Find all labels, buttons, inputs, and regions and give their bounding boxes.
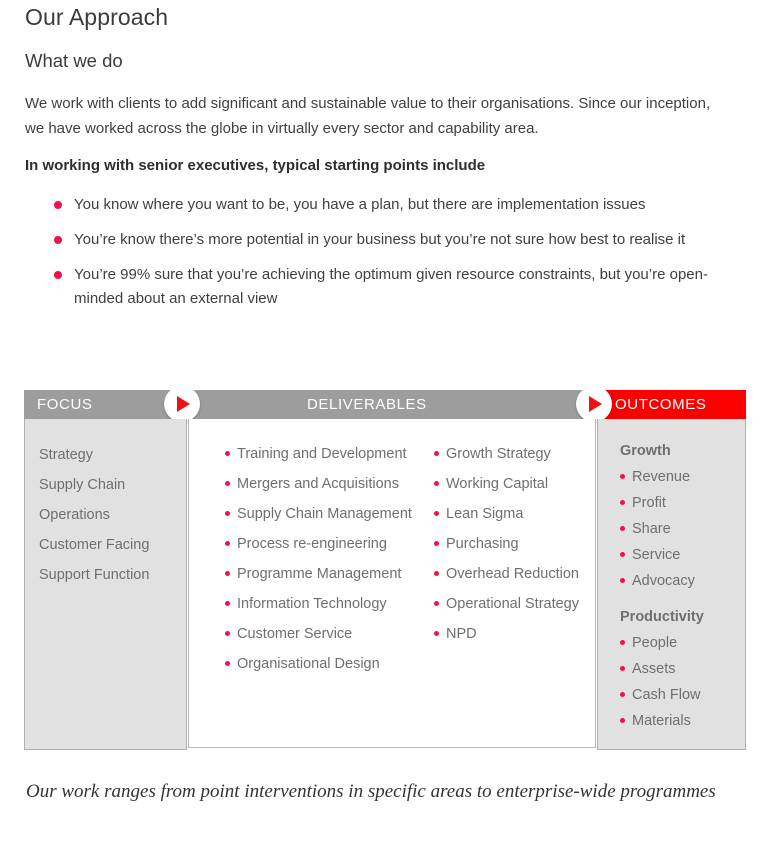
outcomes-list-productivity: People Assets Cash Flow Materials: [620, 630, 704, 734]
column-outcomes: Growth Revenue Profit Share Service Advo…: [597, 419, 746, 750]
section-heading-what-we-do: What we do: [25, 50, 123, 72]
list-item: Supply Chain Management: [225, 499, 412, 529]
list-item: Purchasing: [434, 529, 579, 559]
diagram-header-band: FOCUS DELIVERABLES OUTCOMES: [24, 390, 746, 419]
list-item: Growth Strategy: [434, 439, 579, 469]
list-item: Service: [620, 542, 704, 568]
list-item: Cash Flow: [620, 682, 704, 708]
lead-in-text: In working with senior executives, typic…: [25, 157, 485, 174]
list-item: Working Capital: [434, 469, 579, 499]
list-item: Training and Development: [225, 439, 412, 469]
page-title: Our Approach: [25, 4, 168, 31]
list-item: Information Technology: [225, 589, 412, 619]
list-item: You know where you want to be, you have …: [52, 193, 712, 217]
list-item: You’re know there’s more potential in yo…: [52, 228, 712, 252]
column-deliverables: Training and Development Mergers and Acq…: [188, 419, 596, 748]
list-item: Process re-engineering: [225, 529, 412, 559]
focus-items-list: Strategy Supply Chain Operations Custome…: [39, 440, 149, 590]
header-label-outcomes: OUTCOMES: [615, 390, 706, 419]
arrow-right-icon: [164, 386, 200, 422]
diagram-caption: Our work ranges from point interventions…: [26, 778, 736, 805]
list-item: Supply Chain: [39, 470, 149, 500]
list-item: You’re 99% sure that you’re achieving th…: [52, 263, 712, 311]
outcomes-group-heading-productivity: Productivity: [620, 604, 704, 630]
starting-points-list: You know where you want to be, you have …: [52, 193, 712, 322]
column-focus: Strategy Supply Chain Operations Custome…: [24, 419, 187, 750]
approach-diagram: FOCUS DELIVERABLES OUTCOMES Strategy Sup…: [24, 390, 746, 752]
list-item: Organisational Design: [225, 649, 412, 679]
intro-paragraph: We work with clients to add significant …: [25, 91, 715, 141]
list-item: People: [620, 630, 704, 656]
list-item: Share: [620, 516, 704, 542]
list-item: Revenue: [620, 464, 704, 490]
deliverables-list-right: Growth Strategy Working Capital Lean Sig…: [434, 439, 579, 649]
header-label-deliverables: DELIVERABLES: [307, 390, 427, 419]
outcomes-list-growth: Revenue Profit Share Service Advocacy: [620, 464, 704, 594]
list-item: Advocacy: [620, 568, 704, 594]
deliverables-list-left: Training and Development Mergers and Acq…: [225, 439, 412, 679]
outcomes-group-heading-growth: Growth: [620, 438, 704, 464]
list-item: Customer Facing: [39, 530, 149, 560]
list-item: Profit: [620, 490, 704, 516]
list-item: Lean Sigma: [434, 499, 579, 529]
header-label-focus: FOCUS: [37, 390, 93, 419]
list-item: Materials: [620, 708, 704, 734]
list-item: Mergers and Acquisitions: [225, 469, 412, 499]
list-item: Strategy: [39, 440, 149, 470]
list-item: Assets: [620, 656, 704, 682]
list-item: NPD: [434, 619, 579, 649]
list-item: Customer Service: [225, 619, 412, 649]
list-item: Programme Management: [225, 559, 412, 589]
arrow-right-icon: [576, 386, 612, 422]
list-item: Operations: [39, 500, 149, 530]
outcomes-body: Growth Revenue Profit Share Service Advo…: [620, 438, 704, 734]
page-root: Our Approach What we do We work with cli…: [0, 0, 771, 848]
list-item: Operational Strategy: [434, 589, 579, 619]
list-item: Overhead Reduction: [434, 559, 579, 589]
list-item: Support Function: [39, 560, 149, 590]
